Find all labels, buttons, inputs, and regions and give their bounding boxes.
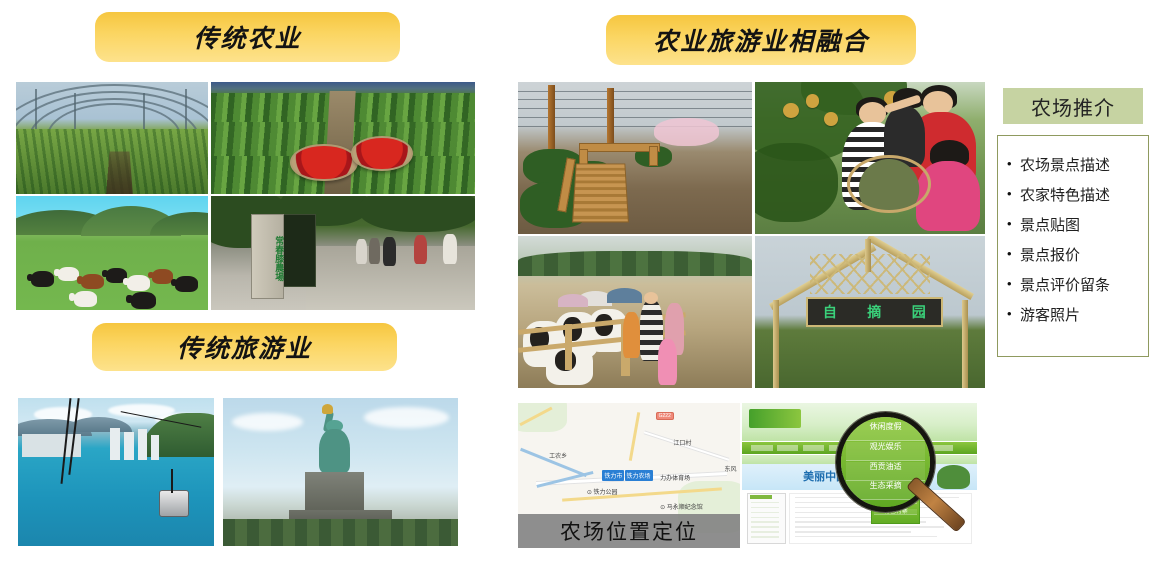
farm-promo-item-farmhouse-features[interactable]: 农家特色描述 xyxy=(1020,188,1142,203)
bamboo-gate-signboard: 自 摘 园 xyxy=(806,297,943,327)
map-label-dongfeng: 东风 xyxy=(724,464,736,473)
cable-car-bay-photo xyxy=(18,398,214,546)
sign-char-2: 摘 xyxy=(867,302,881,322)
slide-canvas: 传统农业 农业旅游业相融合 传统旅游业 xyxy=(0,0,1156,570)
banner-traditional-agriculture: 传统农业 xyxy=(95,12,400,62)
farm-promo-item-scenic-pricing[interactable]: 景点报价 xyxy=(1020,248,1142,263)
farm-promo-item-visitor-photos[interactable]: 游客照片 xyxy=(1020,308,1142,323)
farm-promo-box: 农场景点描述 农家特色描述 景点贴图 景点报价 景点评价留条 游客照片 xyxy=(997,135,1149,357)
farm-gate-sign: 常春膝農場 xyxy=(251,214,285,299)
site-sidebar xyxy=(747,493,787,544)
farm-promo-header: 农场推介 xyxy=(1003,88,1143,124)
cow-feeding-visitors-photo xyxy=(518,236,752,388)
strawberry-harvest-photo xyxy=(211,82,475,194)
map-poi-mayongshun: ⊙ 马永顺纪念馆 xyxy=(660,502,703,511)
map-highlight-tielinongchang: 铁力农场 xyxy=(625,470,653,481)
sign-char-3: 园 xyxy=(912,302,926,322)
cattle-pasture-photo xyxy=(16,196,208,310)
sign-char-1: 自 xyxy=(823,302,837,322)
farm-promo-item-scenic-reviews[interactable]: 景点评价留条 xyxy=(1020,278,1142,293)
banner-traditional-tourism: 传统旅游业 xyxy=(92,323,397,371)
greenhouse-garden-walkway-photo xyxy=(518,82,752,234)
site-hero-tree-icon xyxy=(937,465,970,488)
greenhouse-crop-photo xyxy=(16,82,208,194)
menu-item-guangguangyule[interactable]: 观光娱乐 xyxy=(846,442,925,461)
map-highlight-tielishi: 铁力市 xyxy=(602,470,624,481)
fruit-picking-children-photo xyxy=(755,82,985,234)
farm-promo-item-scenic-photos[interactable]: 景点贴图 xyxy=(1020,218,1142,233)
map-highway-shield: G222 xyxy=(656,412,674,420)
farm-promo-item-scenic-description[interactable]: 农场景点描述 xyxy=(1020,158,1142,173)
menu-item-xiuxiandujia[interactable]: 休闲度假 xyxy=(846,422,925,441)
map-poi-tiyuchang: 力办体育场 xyxy=(660,473,690,482)
site-logo xyxy=(749,409,801,428)
map-label-gongnongxiang: 工农乡 xyxy=(549,451,567,460)
map-label-jiangkoucun: 江口村 xyxy=(673,438,691,447)
farm-location-map-photo: G222 工农乡 江口村 东风 铁力市 铁力农场 ⊙ 铁力公园 ⊙ 马永顺纪念馆… xyxy=(518,403,740,548)
farm-gate-visitors-photo: 常春膝農場 xyxy=(211,196,475,310)
map-caption: 农场位置定位 xyxy=(518,514,740,548)
rural-tourism-website-photo: 美丽中国乡村行 xyxy=(742,403,977,548)
farm-promo-list: 农场景点描述 农家特色描述 景点贴图 景点报价 景点评价留条 游客照片 xyxy=(1004,158,1142,323)
statue-of-liberty-photo xyxy=(223,398,458,546)
bamboo-gate-photo: 自 摘 园 xyxy=(755,236,985,388)
banner-agri-tourism-fusion: 农业旅游业相融合 xyxy=(606,15,916,65)
map-poi-tieligongyuan: ⊙ 铁力公园 xyxy=(587,487,618,496)
